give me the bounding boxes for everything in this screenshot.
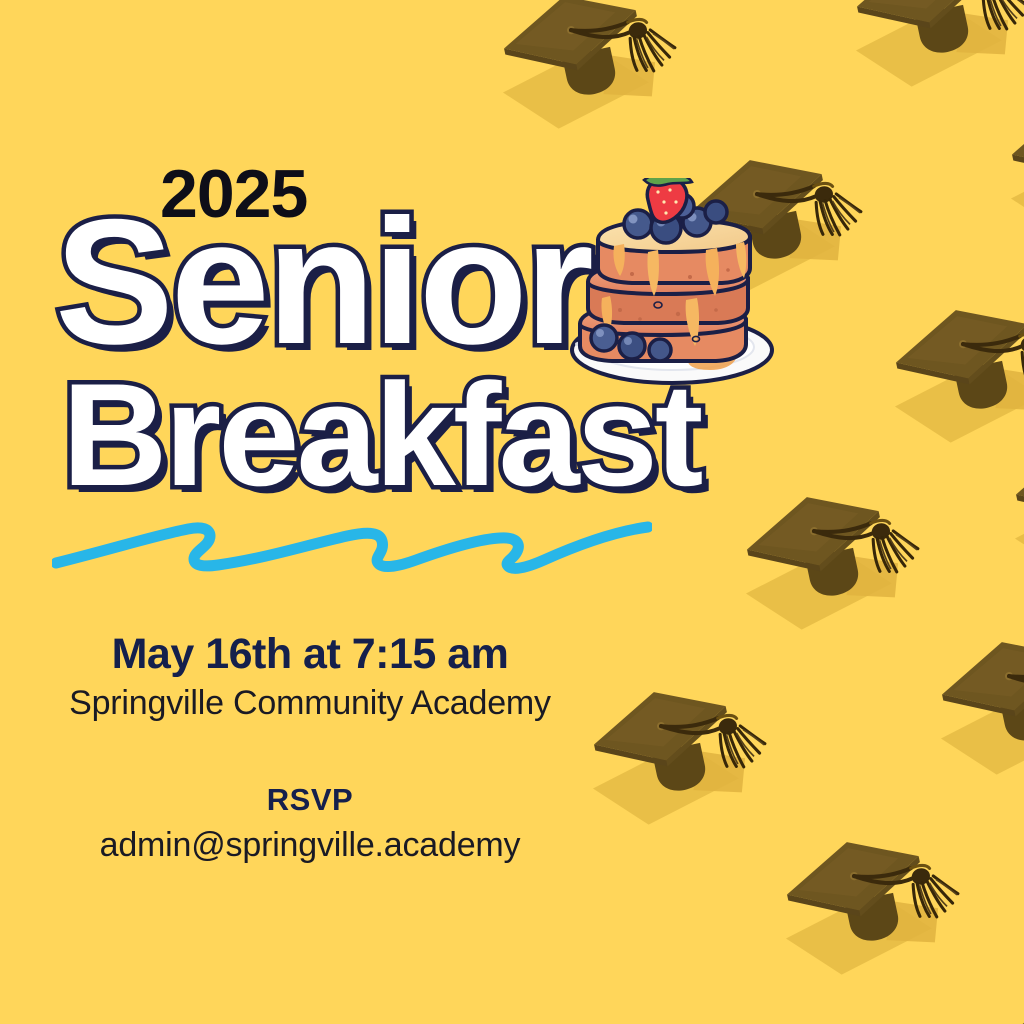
graduation-cap-icon: [982, 378, 1024, 632]
graduation-cap-icon: [988, 908, 1024, 1024]
graduation-cap-icon: [908, 578, 1024, 832]
graduation-cap-icon: [978, 38, 1024, 292]
french-toast-stack-icon: [540, 178, 796, 400]
event-details: May 16th at 7:15 am Springville Communit…: [0, 630, 620, 865]
wavy-underline-icon: [52, 505, 652, 577]
page-title-line1: Senior: [55, 205, 591, 358]
event-venue-text: Springville Community Academy: [0, 683, 620, 724]
poster-canvas: 2025 Senior Breakfast: [0, 0, 1024, 1024]
graduation-cap-icon: [823, 0, 1024, 144]
rsvp-email-link[interactable]: admin@springville.academy: [0, 826, 620, 865]
graduation-cap-icon: [713, 433, 967, 687]
graduation-cap-icon: [470, 0, 724, 186]
rsvp-label: RSVP: [0, 782, 620, 818]
graduation-cap-icon: [753, 778, 1007, 1024]
event-date-text: May 16th at 7:15 am: [0, 630, 620, 679]
graduation-cap-icon: [862, 246, 1024, 500]
